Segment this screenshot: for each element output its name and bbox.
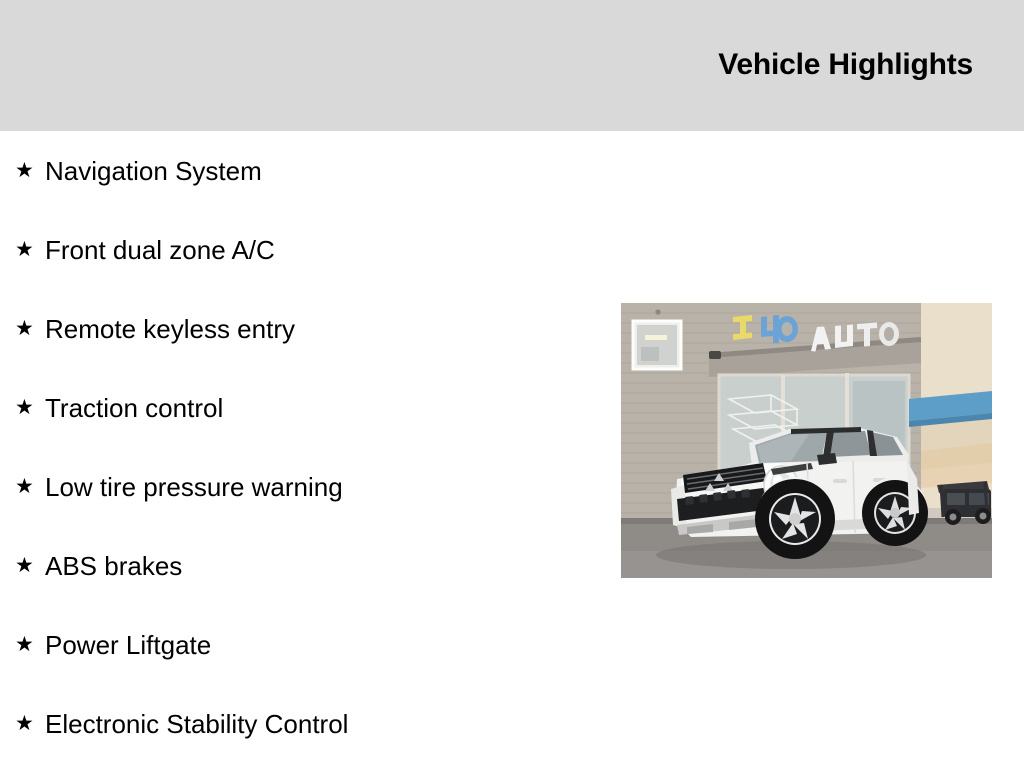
star-bullet-icon: ★ [15,713,45,734]
list-item: ★ Electronic Stability Control [0,684,600,763]
vehicle-photo-illustration: 0% [621,303,992,578]
list-item: ★ Traction control [0,368,600,447]
list-item-label: Electronic Stability Control [45,711,348,737]
star-bullet-icon: ★ [15,160,45,181]
list-item: ★ Remote keyless entry [0,289,600,368]
star-bullet-icon: ★ [15,397,45,418]
header-band: Vehicle Highlights [0,0,1024,131]
star-bullet-icon: ★ [15,476,45,497]
list-item-label: Remote keyless entry [45,316,295,342]
list-item-label: ABS brakes [45,553,182,579]
list-item-label: Low tire pressure warning [45,474,343,500]
list-item: ★ ABS brakes [0,526,600,605]
list-item-label: Navigation System [45,158,262,184]
page-title: Vehicle Highlights [718,48,973,82]
star-bullet-icon: ★ [15,555,45,576]
list-item: ★ Navigation System [0,131,600,210]
list-item-label: Power Liftgate [45,632,211,658]
list-item: ★ Front dual zone A/C [0,210,600,289]
star-bullet-icon: ★ [15,634,45,655]
star-bullet-icon: ★ [15,318,45,339]
list-item: ★ Power Liftgate [0,605,600,684]
list-item-label: Traction control [45,395,223,421]
list-item: ★ Low tire pressure warning [0,447,600,526]
star-bullet-icon: ★ [15,239,45,260]
vehicle-photo: 0% [621,303,992,578]
vehicle-highlights-list: ★ Navigation System ★ Front dual zone A/… [0,131,600,763]
list-item-label: Front dual zone A/C [45,237,275,263]
